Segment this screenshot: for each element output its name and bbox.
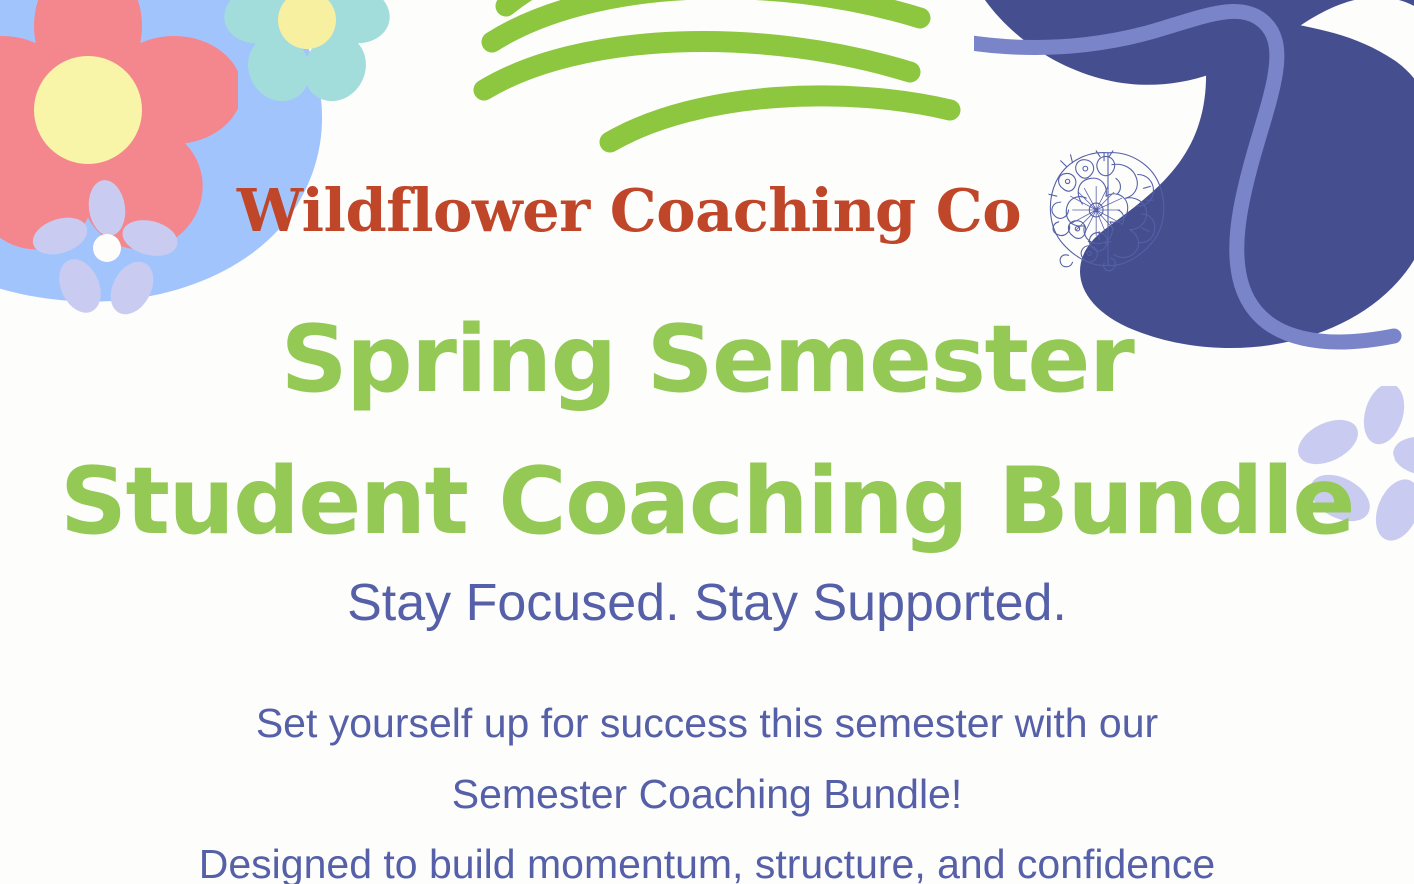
brand-lockup: Wildflower Coaching Co [0, 141, 1414, 279]
headline-line-1: Spring Semester [0, 288, 1414, 430]
flyer-content: Wildflower Coaching Co [0, 0, 1414, 884]
body-copy: Set yourself up for success this semeste… [0, 688, 1414, 884]
page-title: Spring Semester Student Coaching Bundle [0, 288, 1414, 573]
body-line-1: Set yourself up for success this semeste… [0, 688, 1414, 759]
body-line-3: Designed to build momentum, structure, a… [0, 829, 1414, 884]
body-line-2: Semester Coaching Bundle! [0, 759, 1414, 830]
floral-brain-icon [1039, 141, 1177, 279]
headline-line-2: Student Coaching Bundle [0, 430, 1414, 572]
brand-name: Wildflower Coaching Co [237, 181, 1021, 240]
tagline: Stay Focused. Stay Supported. [0, 572, 1414, 634]
